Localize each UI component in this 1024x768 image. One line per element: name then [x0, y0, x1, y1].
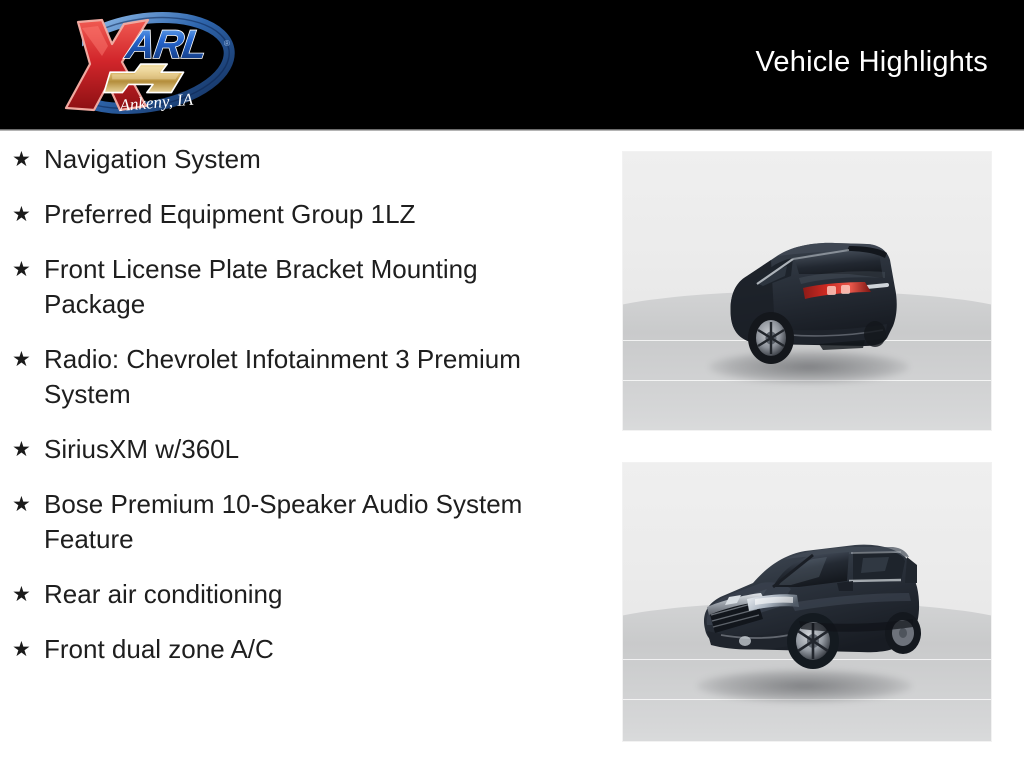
logo-registered-mark: ®: [224, 39, 230, 48]
star-bullet-icon: ★: [12, 342, 44, 377]
header-divider: [0, 129, 1024, 131]
star-bullet-icon: ★: [12, 197, 44, 232]
star-bullet-icon: ★: [12, 632, 44, 667]
wheel: [748, 312, 794, 364]
vehicle-photo-rear-three-quarter[interactable]: [622, 151, 992, 431]
tail-light-element: [827, 286, 836, 295]
feature-label: SiriusXM w/360L: [44, 432, 554, 467]
wheel-rear: [885, 612, 921, 654]
svg-text:ARL: ARL: [122, 22, 208, 67]
list-item: ★ Front License Plate Bracket Mounting P…: [0, 252, 600, 322]
feature-label: Radio: Chevrolet Infotainment 3 Premium …: [44, 342, 554, 412]
feature-label: Navigation System: [44, 142, 554, 177]
list-item: ★ Preferred Equipment Group 1LZ: [0, 197, 600, 232]
suv-front-illustration: [687, 525, 937, 695]
star-bullet-icon: ★: [12, 142, 44, 177]
wheel-far: [864, 321, 886, 347]
list-item: ★ Rear air conditioning: [0, 577, 600, 612]
vehicle-photo-front-three-quarter[interactable]: [622, 462, 992, 742]
list-item: ★ Bose Premium 10-Speaker Audio System F…: [0, 487, 600, 557]
logo-wordmark: ARL: [122, 22, 208, 67]
wheel: [787, 613, 839, 669]
feature-label: Preferred Equipment Group 1LZ: [44, 197, 554, 232]
star-bullet-icon: ★: [12, 252, 44, 287]
feature-label: Rear air conditioning: [44, 577, 554, 612]
feature-label: Bose Premium 10-Speaker Audio System Fea…: [44, 487, 554, 557]
chrome-window-trim: [849, 580, 901, 581]
chrome-roof-trim: [851, 552, 901, 553]
page-title: Vehicle Highlights: [755, 46, 988, 79]
list-item: ★ Radio: Chevrolet Infotainment 3 Premiu…: [0, 342, 600, 412]
star-bullet-icon: ★: [12, 487, 44, 522]
feature-label: Front dual zone A/C: [44, 632, 554, 667]
side-window-reflection: [861, 557, 889, 573]
suv-rear-illustration: [699, 222, 919, 382]
list-item: ★ Front dual zone A/C: [0, 632, 600, 667]
rear-quarter-window: [905, 557, 917, 583]
list-item: ★ Navigation System: [0, 142, 600, 177]
tail-light-element: [841, 285, 850, 294]
vehicle-highlights-list: ★ Navigation System ★ Preferred Equipmen…: [0, 142, 600, 687]
fog-light: [739, 636, 751, 646]
list-item: ★ SiriusXM w/360L: [0, 432, 600, 467]
star-bullet-icon: ★: [12, 577, 44, 612]
karl-chevrolet-logo[interactable]: ARL ® Ankeny, IA: [16, 6, 246, 124]
star-bullet-icon: ★: [12, 432, 44, 467]
feature-label: Front License Plate Bracket Mounting Pac…: [44, 252, 554, 322]
